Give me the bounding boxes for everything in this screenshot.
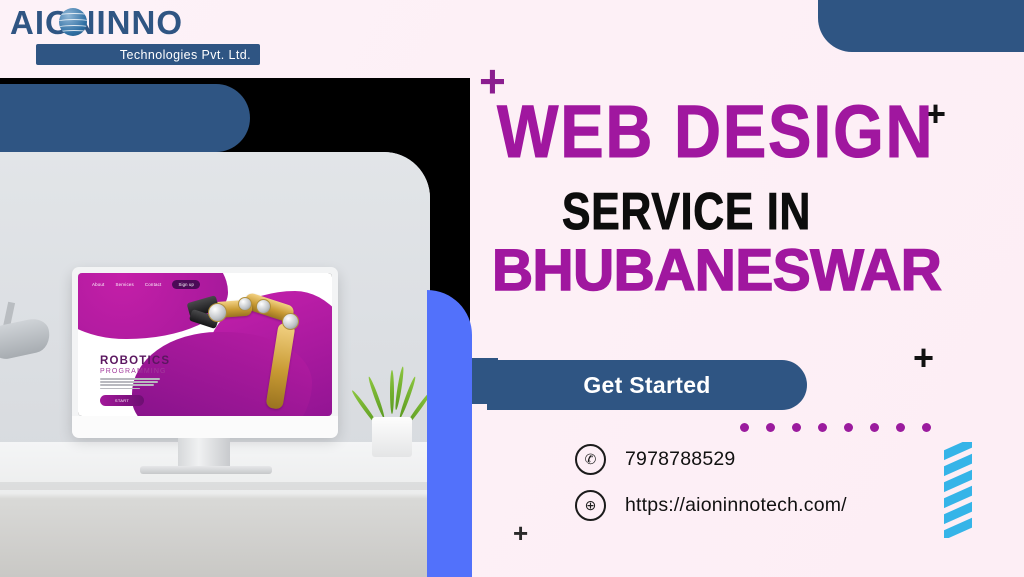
globe-icon bbox=[59, 8, 87, 36]
plus-icon-bottom-left: + bbox=[513, 520, 528, 546]
hero-photo: About Services Contact Sign up ROBOTICS … bbox=[0, 152, 430, 577]
plant-leaves bbox=[366, 352, 422, 422]
company-logo[interactable]: AIONINNO Technologies Pvt. Ltd. bbox=[10, 6, 260, 66]
website-nav-about: About bbox=[92, 282, 104, 287]
photo-desk-edge bbox=[0, 482, 430, 490]
phone-icon: ✆ bbox=[575, 444, 606, 475]
website-body-text-lines bbox=[100, 378, 162, 391]
logo-wordmark: AIONINNO bbox=[10, 6, 183, 39]
contact-block: ✆ 7978788529 ⊕ https://aioninnotech.com/ bbox=[575, 444, 847, 536]
robotic-arm-illustration bbox=[186, 287, 316, 413]
headline-line-1: WEB DESIGN bbox=[497, 102, 934, 163]
get-started-button[interactable]: Get Started bbox=[487, 360, 807, 410]
web-design-service-banner: About Services Contact Sign up ROBOTICS … bbox=[0, 0, 1024, 577]
monitor-stand-neck bbox=[178, 438, 230, 468]
monitor-stand-foot bbox=[140, 466, 272, 474]
decor-navy-bar-top-left bbox=[0, 84, 250, 152]
plant-pot bbox=[372, 417, 412, 457]
website-nav-services: Services bbox=[115, 282, 133, 287]
contact-website-row[interactable]: ⊕ https://aioninnotech.com/ bbox=[575, 490, 847, 521]
content-column: + + + + WEB DESIGN SERVICE IN BHUBANESWA… bbox=[470, 0, 1024, 577]
logo-tagline: Technologies Pvt. Ltd. bbox=[120, 48, 251, 62]
decor-cyan-stripes bbox=[944, 442, 972, 538]
website-nav-contact: Contact bbox=[145, 282, 162, 287]
decor-blue-vertical-shape bbox=[427, 290, 472, 577]
website-nav: About Services Contact Sign up bbox=[92, 280, 200, 289]
phone-number: 7978788529 bbox=[625, 448, 735, 471]
website-url: https://aioninnotech.com/ bbox=[625, 494, 847, 517]
logo-tagline-bar: Technologies Pvt. Ltd. bbox=[36, 44, 260, 65]
website-title: ROBOTICS bbox=[100, 355, 170, 367]
website-start-button: START bbox=[100, 395, 144, 406]
globe-icon: ⊕ bbox=[575, 490, 606, 521]
monitor-screen: About Services Contact Sign up ROBOTICS … bbox=[78, 273, 332, 416]
headline-line-3: BHUBANESWAR bbox=[492, 245, 941, 297]
headline-line-2: SERVICE IN bbox=[562, 190, 811, 234]
website-subtitle: PROGRAMMING bbox=[100, 368, 167, 375]
monitor-chin bbox=[72, 416, 338, 438]
contact-phone-row[interactable]: ✆ 7978788529 bbox=[575, 444, 847, 475]
plus-icon-mid-right: + bbox=[913, 340, 934, 376]
decor-dot-row bbox=[740, 423, 931, 432]
